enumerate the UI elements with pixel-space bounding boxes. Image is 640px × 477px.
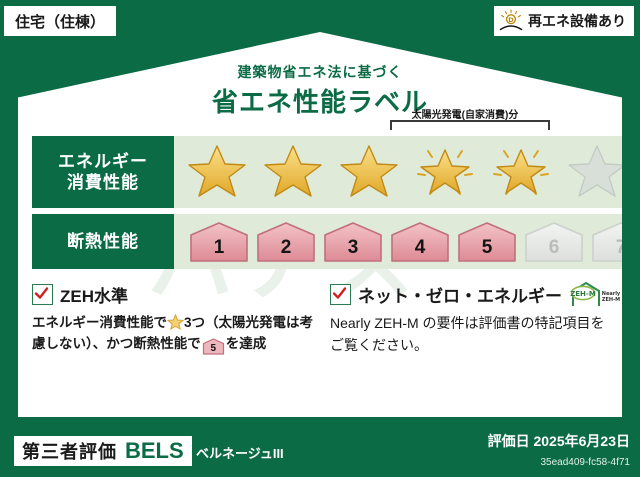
energy-performance-row: エネルギー 消費性能 太陽光発電(自家消費)分	[32, 136, 610, 208]
svg-text:ZEH-M: ZEH-M	[570, 290, 596, 298]
label-subtitle: 建築物省エネ法に基づく	[18, 62, 622, 82]
star-2	[256, 139, 330, 205]
solar-annotation-bracket	[390, 120, 550, 130]
insulation-level-1: 1	[188, 221, 250, 263]
star-4-solar	[408, 139, 482, 205]
house-type-text: 住宅（住棟）	[15, 11, 105, 32]
inline-house-5-icon: 5	[202, 338, 225, 355]
insulation-performance-row: 断熱性能 1	[32, 214, 610, 269]
svg-text:D: D	[508, 16, 514, 24]
insulation-level-2: 2	[255, 221, 317, 263]
sun-icon: D	[498, 9, 524, 33]
check-icon	[34, 286, 49, 301]
renewable-badge-text: 再エネ設備あり	[528, 11, 626, 31]
building-name: ベルネージュIII	[196, 443, 284, 462]
star-3	[332, 139, 406, 205]
energy-label-line1: エネルギー	[58, 151, 148, 172]
insulation-level-4: 4	[389, 221, 451, 263]
evaluation-id: 35ead409-fc58-4f71	[540, 457, 630, 468]
insulation-level-5-number: 5	[482, 237, 493, 259]
zeh-level-title: ZEH水準	[60, 282, 128, 307]
insulation-performance-label: 断熱性能	[32, 214, 174, 269]
insulation-level-2-number: 2	[281, 237, 292, 259]
insulation-level-scale: 1 2 3 4	[174, 221, 640, 263]
insulation-level-7: 7	[590, 221, 640, 263]
inline-star-icon	[167, 314, 184, 330]
check-icon	[332, 286, 347, 301]
insulation-label-text: 断熱性能	[67, 231, 139, 252]
inline-house-5-number: 5	[202, 338, 225, 359]
insulation-level-3: 3	[322, 221, 384, 263]
zeh-desc-part3: を達成	[226, 336, 267, 351]
zeh-level-checkbox	[32, 284, 53, 305]
house-type-tag: 住宅（住棟）	[4, 6, 116, 36]
net-zero-description: Nearly ZEH-M の要件は評価書の特記項目をご覧ください。	[330, 313, 614, 356]
evaluation-date: 評価日 2025年6月23日	[488, 431, 630, 451]
zeh-level-description: エネルギー消費性能で3つ（太陽光発電は考慮しない）、かつ断熱性能で5を達成	[32, 313, 316, 355]
svg-text:ZEH-M: ZEH-M	[602, 297, 620, 303]
insulation-level-7-number: 7	[616, 237, 627, 259]
insulation-level-5: 5	[456, 221, 518, 263]
net-zero-checkbox	[330, 284, 351, 305]
zeh-level-block: ZEH水準 エネルギー消費性能で3つ（太陽光発電は考慮しない）、かつ断熱性能で5…	[32, 282, 316, 355]
energy-performance-label: 住宅（住棟） D 再エネ設備あり パナス 建築物省エネ法に基づく 省エネ性能ラベ…	[0, 0, 640, 477]
bels-jp-text: 第三者評価	[22, 438, 117, 464]
renewable-energy-badge: D 再エネ設備あり	[494, 6, 634, 36]
net-zero-title: ネット・ゼロ・エネルギー	[358, 282, 562, 307]
net-zero-energy-block: ネット・ゼロ・エネルギー ZEH-M Nearly ZEH-M Nearly Z…	[330, 282, 614, 356]
star-6-inactive	[560, 139, 634, 205]
insulation-level-1-number: 1	[214, 237, 225, 259]
energy-label-line2: 消費性能	[67, 172, 139, 193]
label-panel: パナス 建築物省エネ法に基づく 省エネ性能ラベル エネルギー 消費性能 太陽光発…	[18, 32, 622, 417]
zeh-desc-part1: エネルギー消費性能で	[32, 315, 167, 330]
insulation-level-4-number: 4	[415, 237, 426, 259]
bels-en-text: BELS	[125, 438, 184, 464]
energy-performance-label: エネルギー 消費性能	[32, 136, 174, 208]
insulation-level-6-number: 6	[549, 237, 560, 259]
bels-badge: 第三者評価 BELS	[14, 436, 192, 466]
star-rating	[174, 139, 634, 205]
solar-annotation-text: 太陽光発電(自家消費)分	[380, 106, 550, 121]
insulation-level-3-number: 3	[348, 237, 359, 259]
energy-rating-body: 太陽光発電(自家消費)分	[174, 136, 634, 208]
insulation-level-6: 6	[523, 221, 585, 263]
star-1	[180, 139, 254, 205]
zeh-m-logo-icon: ZEH-M Nearly ZEH-M	[569, 280, 625, 308]
star-5-solar	[484, 139, 558, 205]
insulation-rating-body: 1 2 3 4	[174, 214, 640, 269]
